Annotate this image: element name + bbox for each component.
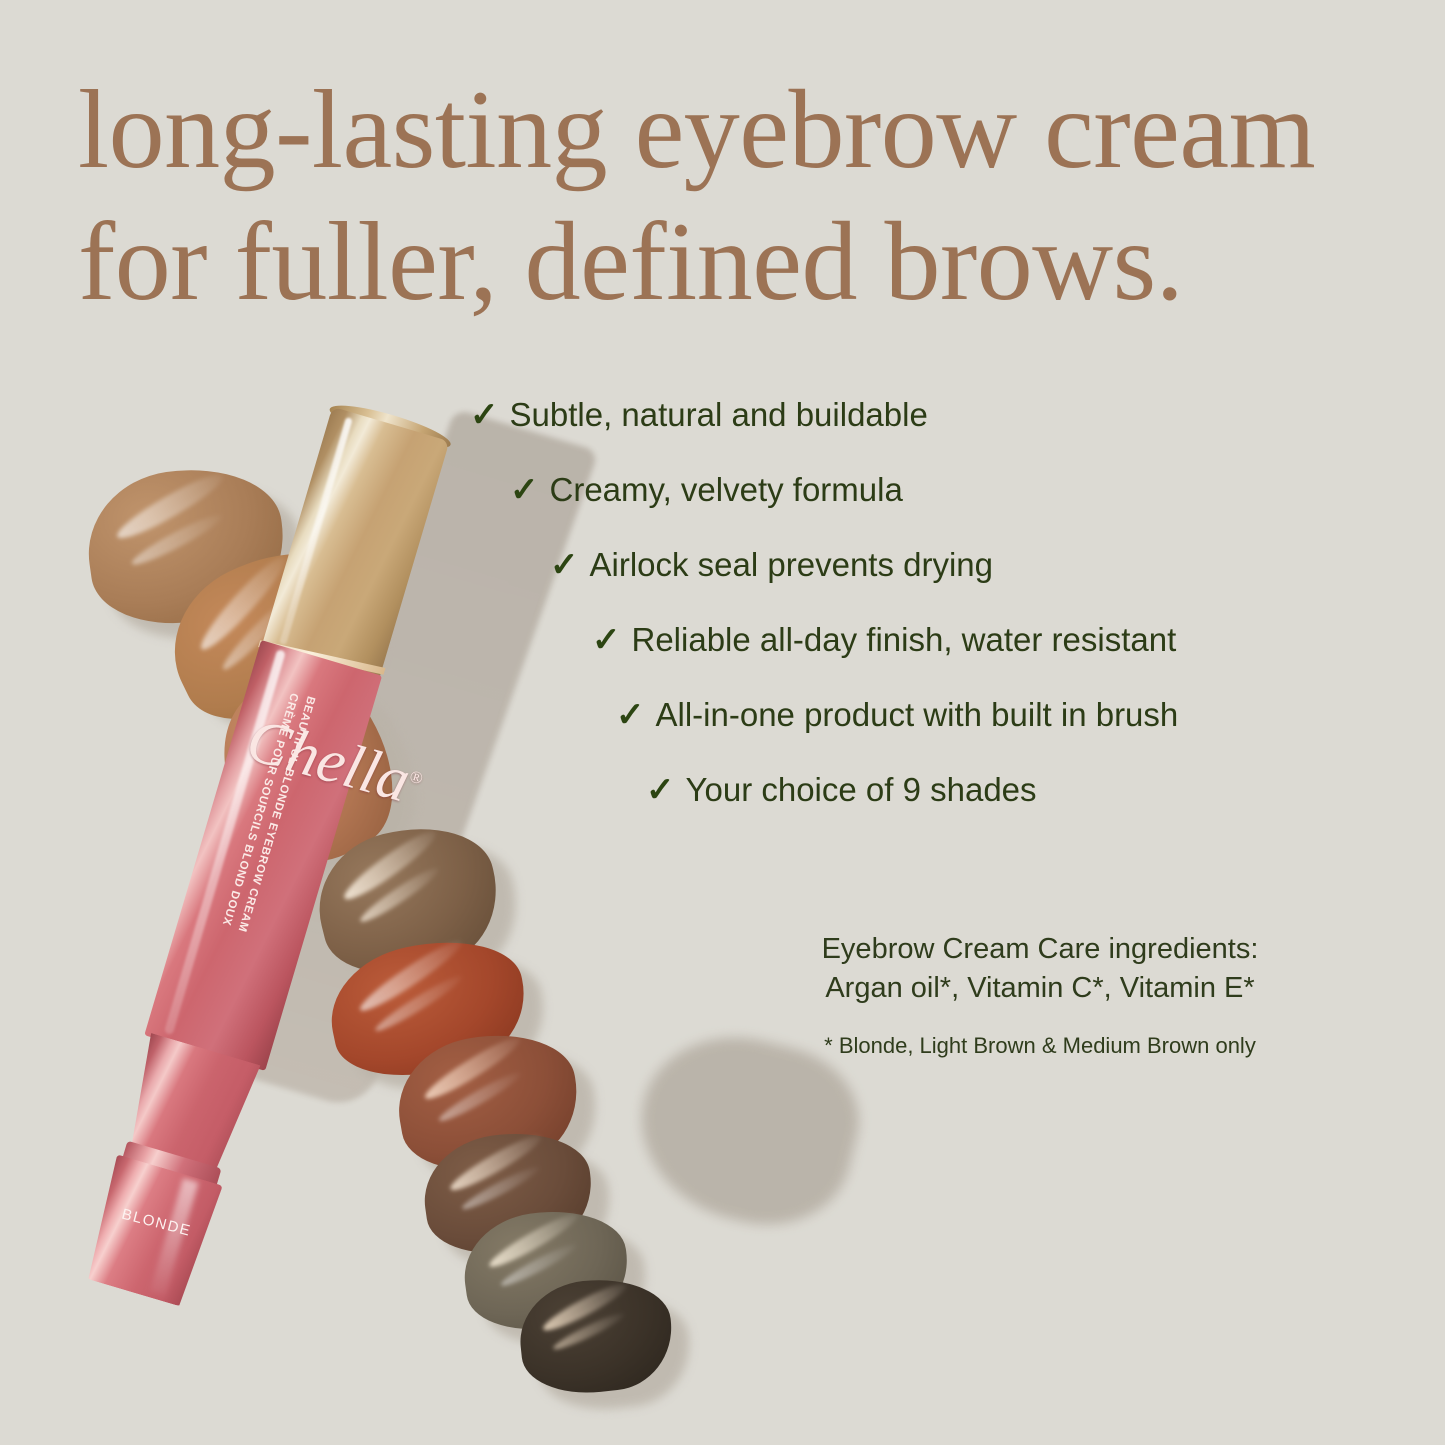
ingredients-footnote: * Blonde, Light Brown & Medium Brown onl… <box>690 1033 1390 1059</box>
benefit-item: ✓ Your choice of 9 shades <box>646 773 1390 807</box>
benefit-item: ✓ Reliable all-day finish, water resista… <box>592 623 1390 657</box>
benefit-item: ✓ All-in-one product with built in brush <box>616 698 1390 732</box>
benefit-label: Creamy, velvety formula <box>550 473 903 506</box>
check-icon: ✓ <box>646 773 675 807</box>
ingredients-heading: Eyebrow Cream Care ingredients: <box>690 930 1390 969</box>
benefits-list: ✓ Subtle, natural and buildable ✓ Creamy… <box>470 398 1390 848</box>
benefit-item: ✓ Airlock seal prevents drying <box>550 548 1390 582</box>
benefit-label: All-in-one product with built in brush <box>656 698 1179 731</box>
benefit-label: Reliable all-day finish, water resistant <box>632 623 1177 656</box>
ingredients-block: Eyebrow Cream Care ingredients: Argan oi… <box>690 930 1390 1059</box>
benefit-label: Airlock seal prevents drying <box>590 548 994 581</box>
check-icon: ✓ <box>592 623 621 657</box>
check-icon: ✓ <box>616 698 645 732</box>
product-marketing-image: long-lasting eyebrow cream for fuller, d… <box>0 0 1445 1445</box>
benefit-label: Your choice of 9 shades <box>686 773 1037 806</box>
check-icon: ✓ <box>510 473 539 507</box>
benefit-item: ✓ Creamy, velvety formula <box>510 473 1390 507</box>
check-icon: ✓ <box>550 548 579 582</box>
ingredients-list: Argan oil*, Vitamin C*, Vitamin E* <box>690 969 1390 1008</box>
benefit-label: Subtle, natural and buildable <box>510 398 928 431</box>
check-icon: ✓ <box>470 398 499 432</box>
benefit-item: ✓ Subtle, natural and buildable <box>470 398 1390 432</box>
swatch-espresso <box>515 1272 678 1399</box>
